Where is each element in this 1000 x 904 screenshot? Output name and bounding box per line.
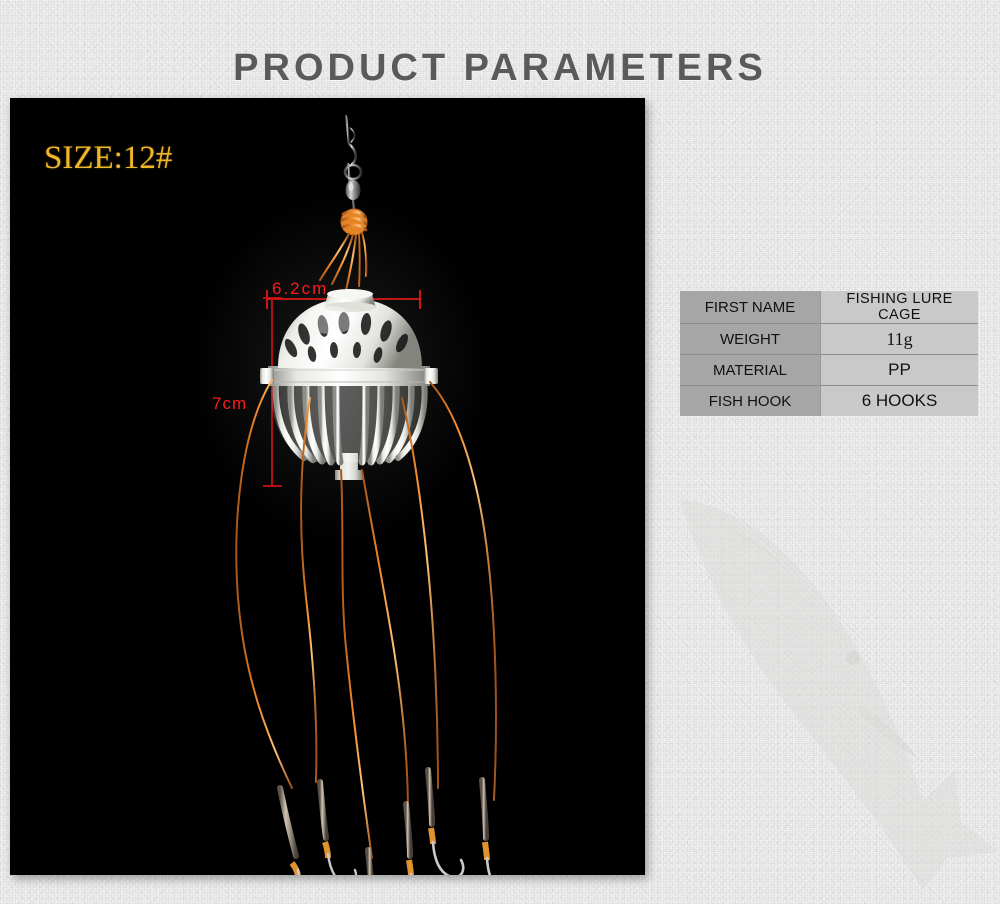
param-value-first-name: FISHING LURE CAGE	[821, 291, 979, 324]
param-value-fish-hook: 6 HOOKS	[821, 386, 979, 417]
size-label: SIZE:12#	[44, 140, 172, 177]
param-key-fish-hook: FISH HOOK	[680, 386, 821, 417]
table-row: WEIGHT 11g	[680, 324, 978, 355]
metal-bead-swivel	[346, 180, 361, 200]
page-title: PRODUCT PARAMETERS	[0, 47, 1000, 90]
table-row: FIRST NAME FISHING LURE CAGE	[680, 291, 978, 324]
dimension-width-label: 6.2cm	[272, 279, 328, 299]
param-key-material: MATERIAL	[680, 355, 821, 386]
param-value-weight: 11g	[821, 324, 979, 355]
dimension-height-label: 7cm	[212, 394, 247, 414]
product-parameters-table: FIRST NAME FISHING LURE CAGE WEIGHT 11g …	[680, 291, 978, 416]
product-photo-panel	[10, 98, 645, 875]
param-key-first-name: FIRST NAME	[680, 291, 821, 324]
param-key-weight: WEIGHT	[680, 324, 821, 355]
table-row: MATERIAL PP	[680, 355, 978, 386]
param-value-material: PP	[821, 355, 979, 386]
table-row: FISH HOOK 6 HOOKS	[680, 386, 978, 417]
